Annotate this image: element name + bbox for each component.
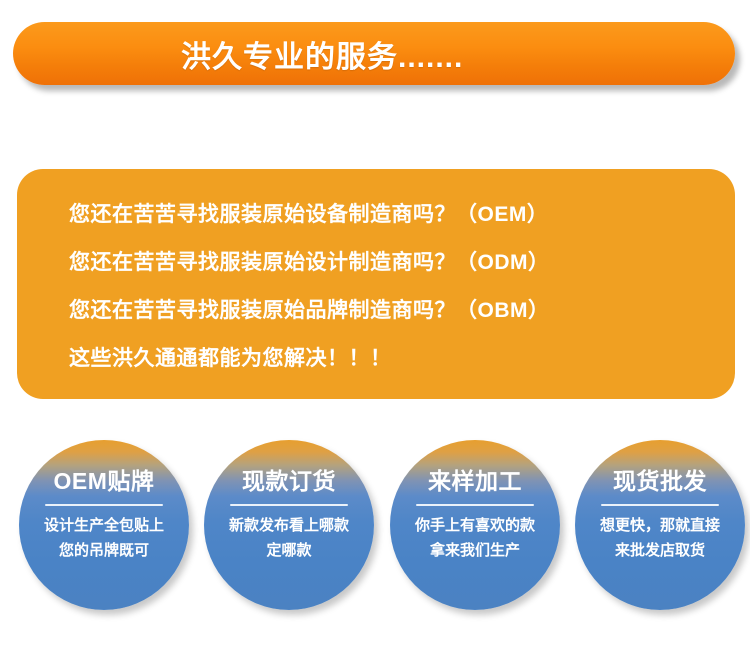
circle-desc-line-2: 拿来我们生产 <box>430 538 520 563</box>
circle-desc-line-2: 您的吊牌既可 <box>59 538 149 563</box>
circle-desc-line-1: 新款发布看上哪款 <box>229 513 349 538</box>
circle-desc-line-2: 定哪款 <box>266 538 311 563</box>
service-circle-row: OEM贴牌 设计生产全包贴上 您的吊牌既可 现款订货 新款发布看上哪款 定哪款 … <box>0 440 750 620</box>
circle-divider <box>601 504 719 506</box>
question-list: 您还在苦苦寻找服装原始设备制造商吗？（OEM） 您还在苦苦寻找服装原始设计制造商… <box>17 169 735 383</box>
circle-title: 现货批发 <box>613 467 707 495</box>
header-banner: 洪久专业的服务....... <box>13 22 735 85</box>
circle-title: 来样加工 <box>428 467 522 495</box>
circle-title: OEM贴牌 <box>54 467 155 495</box>
service-circle-sample-processing[interactable]: 来样加工 你手上有喜欢的款 拿来我们生产 <box>390 440 560 610</box>
banner-title: 洪久专业的服务....... <box>181 32 463 76</box>
circle-title: 现款订货 <box>242 467 336 495</box>
circle-desc-line-1: 你手上有喜欢的款 <box>415 513 535 538</box>
circle-desc-line-1: 想更快，那就直接 <box>600 513 720 538</box>
service-question-panel: 您还在苦苦寻找服装原始设备制造商吗？（OEM） 您还在苦苦寻找服装原始设计制造商… <box>17 169 735 399</box>
circle-divider <box>230 504 348 506</box>
circle-desc-line-1: 设计生产全包贴上 <box>44 513 164 538</box>
question-line-odm: 您还在苦苦寻找服装原始设计制造商吗？（ODM） <box>69 239 735 287</box>
service-circle-stock-wholesale[interactable]: 现货批发 想更快，那就直接 来批发店取货 <box>575 440 745 610</box>
circle-divider <box>45 504 163 506</box>
question-line-obm: 您还在苦苦寻找服装原始品牌制造商吗？（OBM） <box>69 287 735 335</box>
question-line-solution: 这些洪久通通都能为您解决！！！ <box>69 335 735 383</box>
circle-desc-line-2: 来批发店取货 <box>615 538 705 563</box>
service-circle-oem[interactable]: OEM贴牌 设计生产全包贴上 您的吊牌既可 <box>19 440 189 610</box>
question-line-oem: 您还在苦苦寻找服装原始设备制造商吗？（OEM） <box>69 191 735 239</box>
service-circle-cash-order[interactable]: 现款订货 新款发布看上哪款 定哪款 <box>204 440 374 610</box>
circle-divider <box>416 504 534 506</box>
